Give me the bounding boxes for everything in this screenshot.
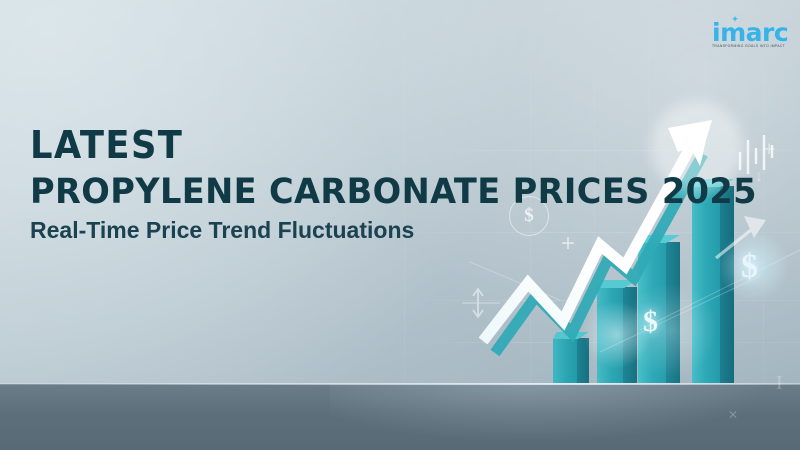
eyebrow-text: LATEST	[30, 126, 734, 164]
logo-wordmark: imarc	[712, 22, 784, 44]
bar-dollar-icon: $	[643, 305, 658, 339]
infographic-banner: $ + + ↓ ✕ I $ $ LATEST PROPYLENE CARBONA…	[0, 0, 800, 450]
text-cursor-icon: I	[776, 372, 783, 395]
logo-tagline: TRANSFORMING GOALS INTO IMPACT	[712, 44, 784, 49]
bar-1	[553, 338, 589, 383]
bar-1-front	[553, 338, 577, 383]
bar-2-front	[597, 287, 623, 383]
page-subtitle: Real-Time Price Trend Fluctuations	[30, 219, 787, 242]
bar-2	[597, 287, 637, 383]
bar-2-side	[623, 287, 637, 383]
headline-block: LATEST PROPYLENE CARBONATE PRICES 2025 R…	[30, 126, 787, 242]
bar-dollar-symbol: $	[643, 305, 658, 338]
page-title: PROPYLENE CARBONATE PRICES 2025	[30, 175, 757, 210]
right-dollar-symbol: $	[741, 248, 758, 285]
x-mark-symbol: ✕	[728, 408, 738, 422]
x-mark-icon: ✕	[728, 408, 738, 422]
up-down-marker	[462, 289, 500, 317]
floor-horizon-line	[0, 383, 800, 385]
imarc-logo[interactable]: ✦ imarc TRANSFORMING GOALS INTO IMPACT	[712, 16, 784, 49]
bar-3-side	[666, 242, 680, 383]
text-cursor-symbol: I	[776, 372, 783, 394]
right-dollar-icon: $	[741, 248, 758, 286]
bar-1-side	[577, 338, 589, 383]
